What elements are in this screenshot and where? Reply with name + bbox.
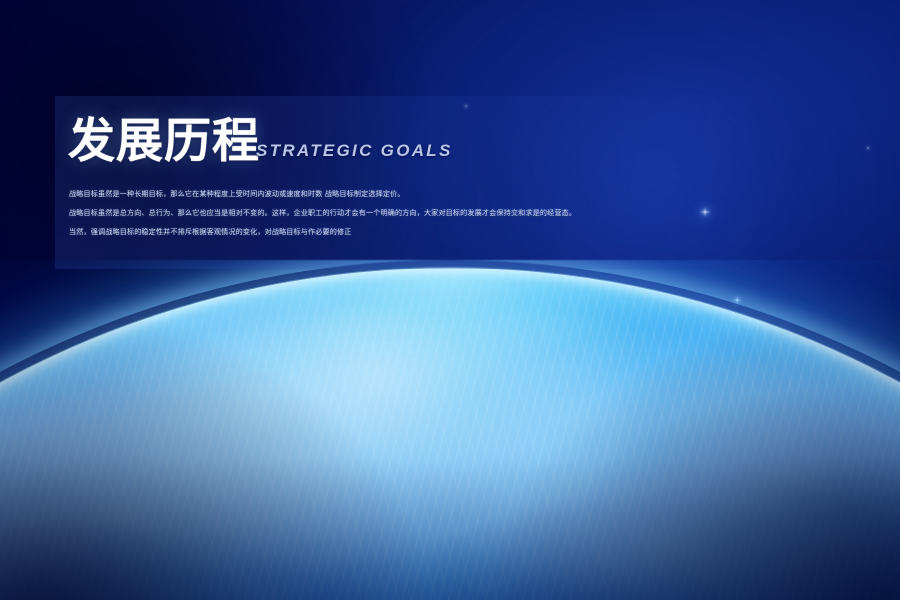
body-line: 当然，强调战略目标的稳定性并不排斥根据客观情况的变化，对战略目标与作必要的修正 xyxy=(69,222,729,241)
page-subtitle: STRATEGIC GOALS xyxy=(256,141,453,161)
content-panel: 发展历程 STRATEGIC GOALS 战略目标虽然是一种长期目标，那么它在某… xyxy=(55,96,752,269)
body-line: 战略目标虽然是总方向、总行为、那么它也应当是相对不变的。这样，企业职工的行动才会… xyxy=(69,203,729,222)
title-block: 发展历程 STRATEGIC GOALS xyxy=(68,118,453,165)
body-line: 战略目标虽然是一种长期目标，那么它在某种程度上受时间内波动或速度和时数 战略目标… xyxy=(69,184,729,203)
hero-banner: 发展历程 STRATEGIC GOALS 战略目标虽然是一种长期目标，那么它在某… xyxy=(0,0,900,600)
body-paragraph: 战略目标虽然是一种长期目标，那么它在某种程度上受时间内波动或速度和时数 战略目标… xyxy=(69,184,729,241)
earth-globe xyxy=(0,260,900,600)
page-title: 发展历程 xyxy=(68,118,260,165)
earth-sphere xyxy=(0,268,900,600)
